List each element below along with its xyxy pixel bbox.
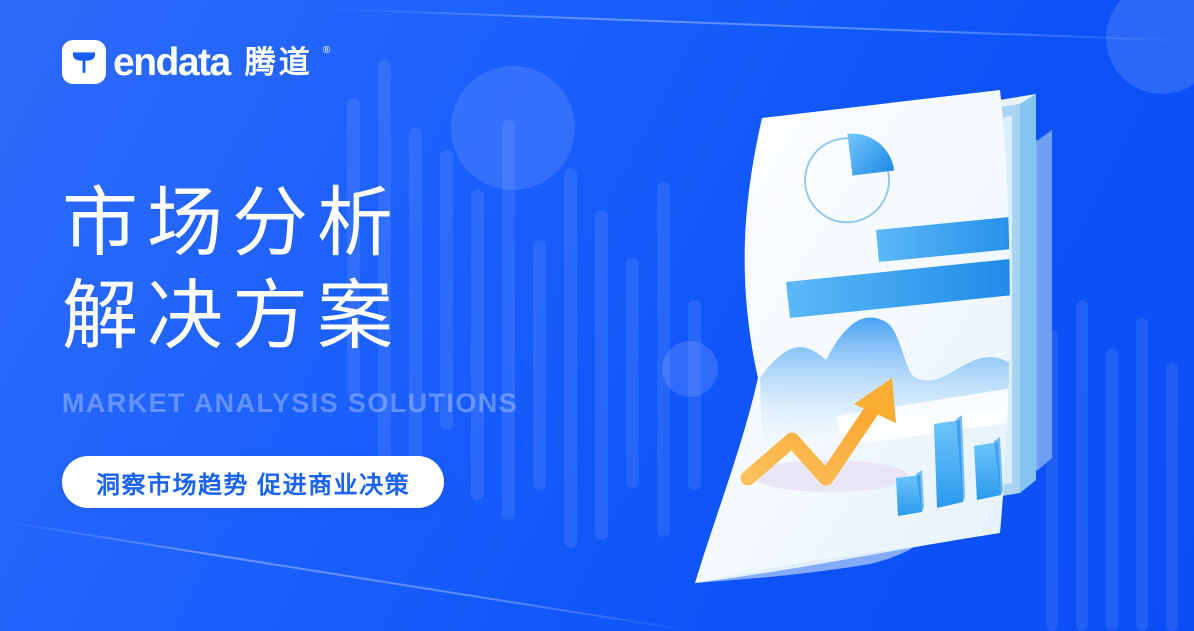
marketing-banner: endata 腾道 ® 市场分析 解决方案 MARKET ANALYSIS SO…	[0, 0, 1194, 631]
background-eq-bar	[533, 240, 546, 490]
logo-chinese-name: 腾道	[245, 47, 313, 78]
market-report-document-illustration	[640, 78, 1070, 603]
headline-line-1: 市场分析	[62, 178, 402, 271]
background-eq-bar	[564, 168, 577, 548]
background-eq-bar	[1076, 300, 1088, 631]
background-eq-bar	[1136, 318, 1148, 631]
brand-logo[interactable]: endata 腾道 ®	[62, 40, 330, 84]
tendata-sprout-t-icon	[62, 40, 106, 84]
background-eq-bar	[1106, 348, 1118, 631]
subtitle-english: MARKET ANALYSIS SOLUTIONS	[62, 388, 518, 419]
background-eq-bar	[626, 258, 639, 488]
registered-trademark-icon: ®	[323, 46, 330, 56]
tagline-badge[interactable]: 洞察市场趋势 促进商业决策	[62, 456, 444, 508]
headline-line-2: 解决方案	[62, 271, 402, 364]
background-diagonal-line	[330, 8, 1194, 42]
logo-wordmark: endata	[113, 43, 230, 82]
background-eq-bar	[471, 190, 484, 500]
background-circle	[1106, 0, 1194, 94]
background-eq-bar	[595, 210, 608, 540]
background-eq-bar	[1166, 362, 1178, 631]
document-front-sheet	[695, 90, 1033, 583]
tagline-badge-label: 洞察市场趋势 促进商业决策	[96, 465, 410, 500]
page-title: 市场分析 解决方案	[62, 178, 402, 363]
background-eq-bar	[409, 128, 422, 483]
background-circle	[451, 66, 575, 190]
